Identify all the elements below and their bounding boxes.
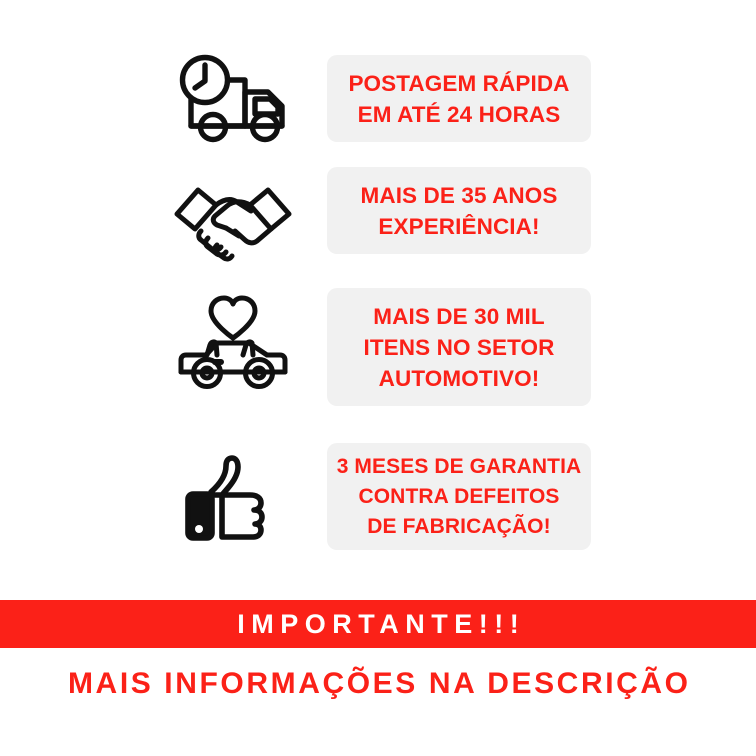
benefit-text-line: MAIS DE 35 ANOS — [361, 180, 558, 211]
important-banner: IMPORTANTE!!! — [0, 600, 756, 648]
benefit-text-line: MAIS DE 30 MIL — [373, 301, 544, 332]
description-label: MAIS INFORMAÇÕES NA DESCRIÇÃO — [65, 667, 690, 701]
benefit-pill-catalog: MAIS DE 30 MIL ITENS NO SETOR AUTOMOTIVO… — [327, 288, 591, 406]
benefit-text-line: AUTOMOTIVO! — [379, 363, 540, 394]
benefit-text-line: 3 MESES DE GARANTIA — [337, 452, 582, 482]
car-heart-icon — [160, 290, 305, 395]
important-label: IMPORTANTE!!! — [231, 609, 525, 640]
promo-banner-page: POSTAGEM RÁPIDA EM ATÉ 24 HORAS — [0, 0, 756, 756]
benefit-text-line: DE FABRICAÇÃO! — [367, 512, 550, 542]
benefit-text-line: EXPERIÊNCIA! — [378, 211, 539, 242]
handshake-icon — [160, 170, 305, 270]
thumbs-up-icon — [160, 440, 305, 555]
benefit-text-line: POSTAGEM RÁPIDA — [348, 68, 569, 99]
benefit-pill-warranty: 3 MESES DE GARANTIA CONTRA DEFEITOS DE F… — [327, 443, 591, 550]
benefit-text-line: EM ATÉ 24 HORAS — [358, 99, 561, 130]
description-callout: MAIS INFORMAÇÕES NA DESCRIÇÃO — [0, 660, 756, 708]
benefit-text-line: CONTRA DEFEITOS — [358, 482, 559, 512]
benefit-pill-shipping: POSTAGEM RÁPIDA EM ATÉ 24 HORAS — [327, 55, 591, 142]
benefit-pill-experience: MAIS DE 35 ANOS EXPERIÊNCIA! — [327, 167, 591, 254]
delivery-truck-clock-icon — [160, 48, 305, 148]
benefits-list: POSTAGEM RÁPIDA EM ATÉ 24 HORAS — [0, 0, 756, 590]
benefit-text-line: ITENS NO SETOR — [363, 332, 554, 363]
